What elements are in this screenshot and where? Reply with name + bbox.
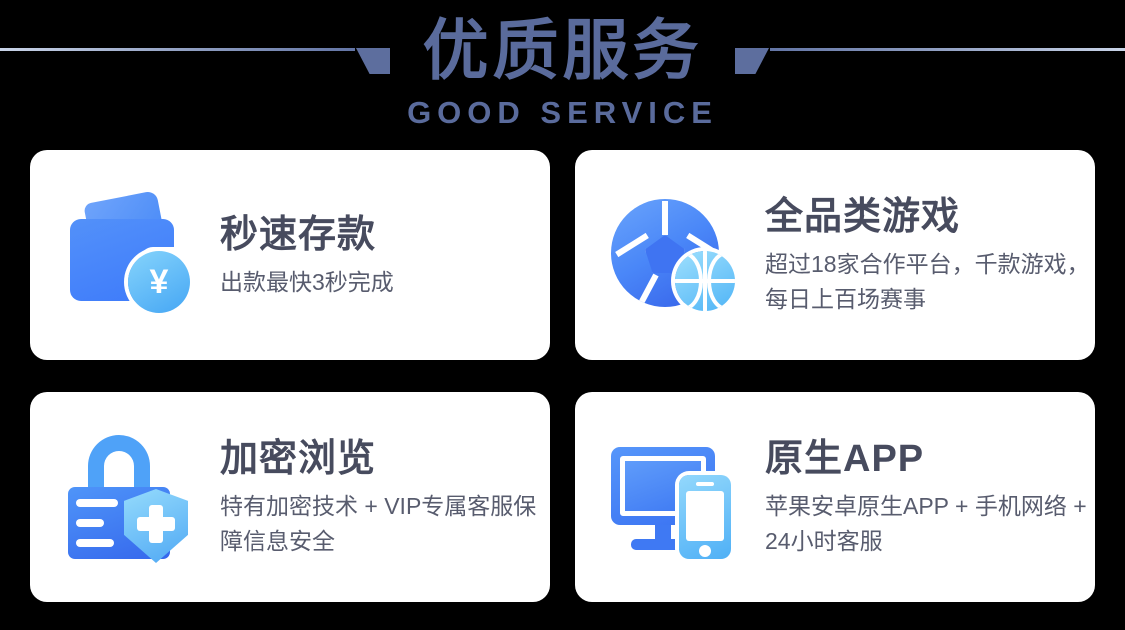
wallet-icon: ¥	[62, 189, 194, 321]
service-card-native-app[interactable]: 原生APP 苹果安卓原生APP + 手机网络 + 24小时客服	[575, 392, 1095, 602]
page-title: 优质服务	[0, 10, 1125, 90]
page-subtitle: GOOD SERVICE	[0, 96, 1125, 130]
phone-screen	[686, 491, 724, 541]
yen-coin-icon: ¥	[128, 251, 190, 313]
basketball-curve	[675, 251, 703, 311]
soccer-seam	[662, 201, 668, 235]
phone-speaker	[696, 482, 714, 486]
service-card-deposit[interactable]: ¥ 秒速存款 出款最快3秒完成	[30, 150, 550, 360]
card-title: 加密浏览	[220, 435, 550, 483]
card-text-block: 原生APP 苹果安卓原生APP + 手机网络 + 24小时客服	[765, 435, 1095, 559]
card-description: 出款最快3秒完成	[220, 265, 394, 300]
service-card-encryption[interactable]: 加密浏览 特有加密技术 + VIP专属客服保障信息安全	[30, 392, 550, 602]
smartphone-icon	[679, 475, 731, 559]
card-title: 原生APP	[765, 435, 1095, 483]
lock-line	[76, 539, 114, 547]
lock-line	[76, 499, 118, 507]
service-card-games[interactable]: 全品类游戏 超过18家合作平台，千款游戏，每日上百场赛事	[575, 150, 1095, 360]
basketball-curve	[707, 251, 735, 311]
basketball-icon	[675, 251, 735, 311]
lock-line	[76, 519, 104, 527]
service-card-grid: ¥ 秒速存款 出款最快3秒完成 全品类游戏	[30, 150, 1095, 602]
soccer-seam	[637, 274, 658, 307]
lock-icon	[62, 431, 194, 563]
card-description: 超过18家合作平台，千款游戏，每日上百场赛事	[765, 247, 1095, 317]
card-title: 全品类游戏	[765, 193, 1095, 241]
sports-balls-icon	[607, 189, 739, 321]
card-text-block: 全品类游戏 超过18家合作平台，千款游戏，每日上百场赛事	[765, 193, 1095, 317]
card-text-block: 秒速存款 出款最快3秒完成	[220, 211, 394, 300]
phone-home-button	[699, 545, 711, 557]
card-title: 秒速存款	[220, 211, 394, 259]
soccer-seam	[615, 233, 649, 257]
card-description: 特有加密技术 + VIP专属客服保障信息安全	[220, 489, 550, 559]
card-text-block: 加密浏览 特有加密技术 + VIP专属客服保障信息安全	[220, 435, 550, 559]
card-description: 苹果安卓原生APP + 手机网络 + 24小时客服	[765, 489, 1095, 559]
devices-icon	[607, 431, 739, 563]
page-header: 优质服务 GOOD SERVICE	[0, 0, 1125, 140]
